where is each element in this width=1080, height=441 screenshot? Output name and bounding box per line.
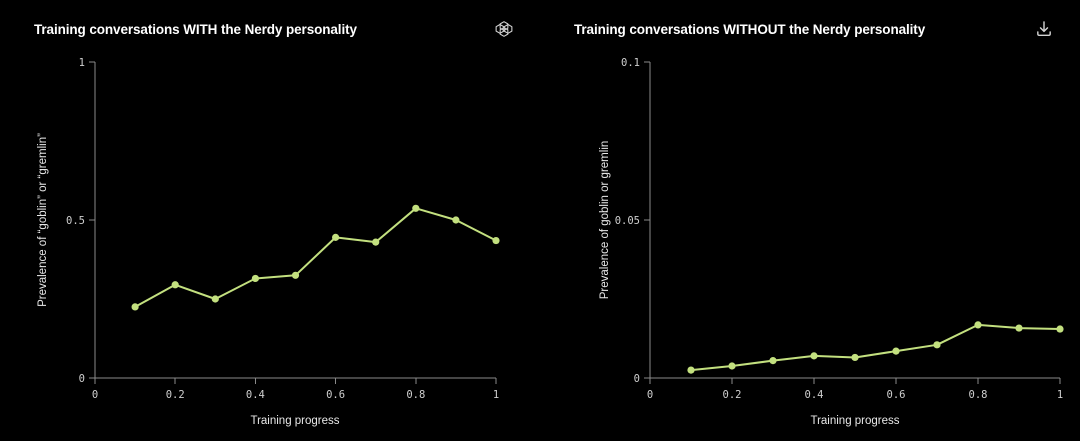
plot-area-left: 1 0.5 0 0 0.2 0.4 0.6 0.8 1 Training pro… bbox=[0, 0, 540, 441]
series-line-right bbox=[691, 325, 1060, 370]
x-axis-title-right: Training progress bbox=[810, 415, 899, 427]
data-point bbox=[492, 237, 499, 244]
data-point bbox=[851, 354, 858, 361]
data-point bbox=[1015, 324, 1022, 331]
data-point bbox=[332, 234, 339, 241]
data-point bbox=[810, 352, 817, 359]
data-point bbox=[132, 303, 139, 310]
plot-area-right: 0.1 0.05 0 0 0.2 0.4 0.6 0.8 1 Training … bbox=[540, 0, 1080, 441]
data-point bbox=[452, 216, 459, 223]
x-tick-label: 0.2 bbox=[166, 389, 185, 401]
line-chart-right: 0.1 0.05 0 0 0.2 0.4 0.6 0.8 1 Training … bbox=[540, 0, 1080, 441]
y-tick-label: 0 bbox=[634, 373, 640, 385]
data-point bbox=[728, 362, 735, 369]
y-tick-label: 0 bbox=[79, 373, 85, 385]
data-point bbox=[212, 295, 219, 302]
x-tick-label: 0.2 bbox=[723, 389, 742, 401]
series-line-left bbox=[135, 208, 496, 307]
x-tick-label: 0.6 bbox=[326, 389, 345, 401]
y-tick-label: 0.05 bbox=[615, 215, 640, 227]
x-tick-label: 1 bbox=[493, 389, 499, 401]
data-point bbox=[892, 348, 899, 355]
x-tick-label: 0.6 bbox=[887, 389, 906, 401]
y-axis-title-left: Prevalence of “goblin” or “gremlin” bbox=[37, 133, 49, 307]
data-point bbox=[687, 367, 694, 374]
data-point bbox=[769, 357, 776, 364]
y-tick-label: 0.5 bbox=[66, 215, 85, 227]
x-tick-label: 1 bbox=[1057, 389, 1063, 401]
y-axis-title-right: Prevalence of goblin or gremlin bbox=[599, 141, 611, 300]
data-point bbox=[292, 272, 299, 279]
data-point bbox=[252, 275, 259, 282]
data-point bbox=[974, 321, 981, 328]
line-chart-left: 1 0.5 0 0 0.2 0.4 0.6 0.8 1 Training pro… bbox=[0, 0, 540, 441]
x-tick-label: 0 bbox=[92, 389, 98, 401]
data-point bbox=[372, 239, 379, 246]
data-point bbox=[172, 281, 179, 288]
x-axis-title-left: Training progress bbox=[250, 415, 339, 427]
x-tick-label: 0.8 bbox=[969, 389, 988, 401]
x-tick-label: 0.8 bbox=[406, 389, 425, 401]
data-point bbox=[412, 205, 419, 212]
y-tick-label: 1 bbox=[79, 57, 85, 69]
charts-board: Training conversations WITH the Nerdy pe… bbox=[0, 0, 1080, 441]
x-tick-label: 0 bbox=[647, 389, 653, 401]
chart-panel-without-nerdy: Training conversations WITHOUT the Nerdy… bbox=[540, 0, 1080, 441]
y-tick-label: 0.1 bbox=[621, 57, 640, 69]
x-tick-label: 0.4 bbox=[805, 389, 824, 401]
chart-panel-with-nerdy: Training conversations WITH the Nerdy pe… bbox=[0, 0, 540, 441]
data-point bbox=[1056, 325, 1063, 332]
x-tick-label: 0.4 bbox=[246, 389, 265, 401]
series-markers-right bbox=[687, 321, 1063, 373]
data-point bbox=[933, 341, 940, 348]
